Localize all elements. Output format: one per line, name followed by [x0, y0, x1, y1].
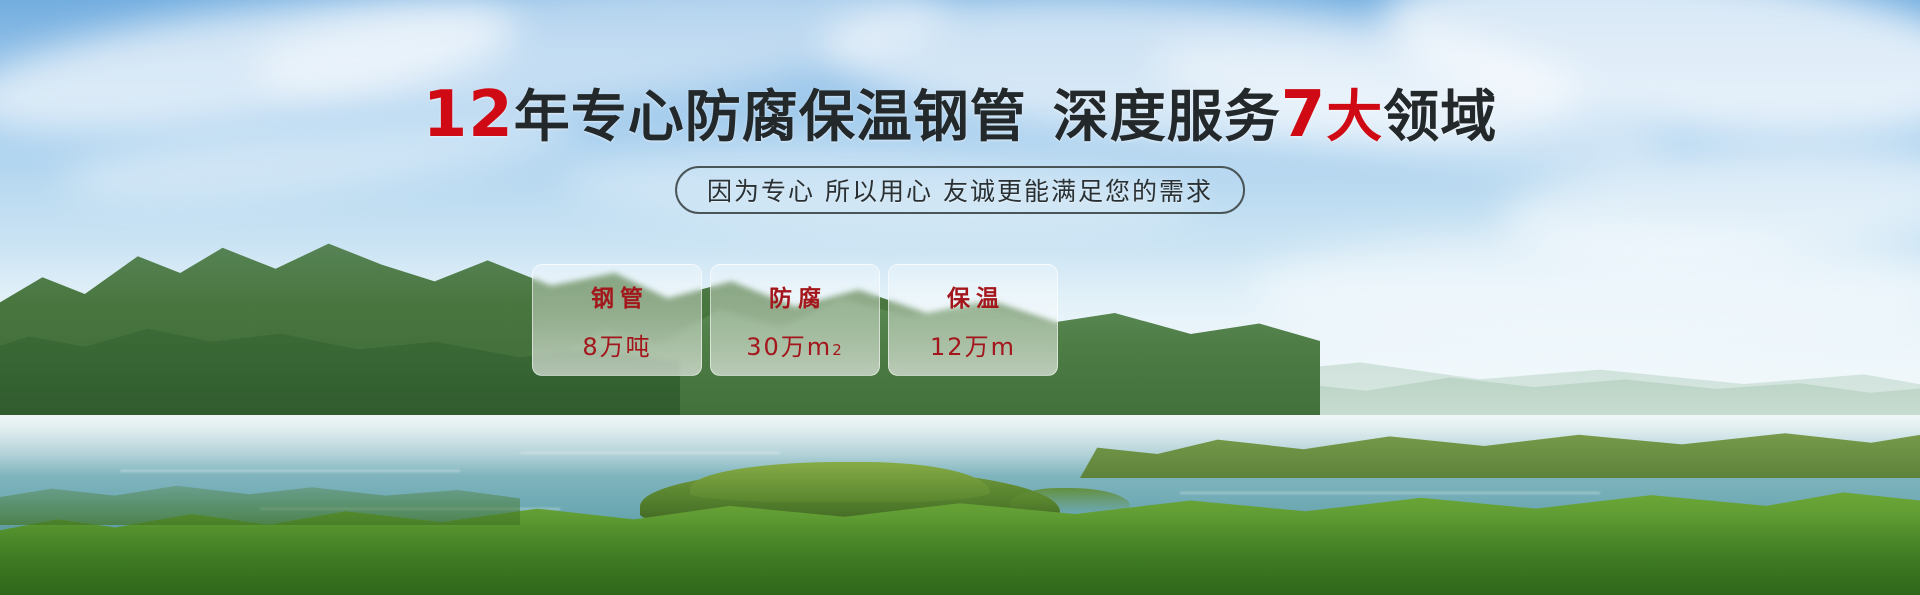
stat-card-insulation[interactable]: 保温 12万m	[888, 264, 1058, 376]
stat-card-value-sup: 2	[832, 341, 844, 359]
stat-card-value: 8万吨	[582, 327, 651, 362]
stat-cards-group: 钢管 8万吨 防腐 30万m2 保温 12万m	[532, 264, 1058, 376]
stat-card-value-text: 8万吨	[582, 327, 651, 362]
stat-card-anticorrosion[interactable]: 防腐 30万m2	[710, 264, 880, 376]
stat-card-value-text: 12万m	[930, 327, 1016, 362]
banner-headline: 12年专心防腐保温钢管深度服务7大领域	[0, 84, 1920, 149]
stat-card-value: 30万m2	[746, 327, 843, 362]
headline-lead-text: 年专心防腐保温钢管	[514, 85, 1027, 150]
headline-second-text: 深度服务	[1053, 85, 1281, 150]
headline-years-number: 12	[423, 78, 514, 152]
stat-card-steel-pipe[interactable]: 钢管 8万吨	[532, 264, 702, 376]
stat-card-value: 12万m	[930, 327, 1016, 362]
subtitle-pill: 因为专心 所以用心 友诚更能满足您的需求	[675, 166, 1245, 214]
headline-domains-unit: 大	[1326, 85, 1383, 150]
stat-card-title: 钢管	[585, 279, 649, 313]
headline-domains-number: 7	[1281, 78, 1327, 152]
subtitle-text: 因为专心 所以用心 友诚更能满足您的需求	[707, 172, 1213, 208]
banner-content: 12年专心防腐保温钢管深度服务7大领域 因为专心 所以用心 友诚更能满足您的需求…	[0, 0, 1920, 595]
headline-tail-text: 领域	[1383, 85, 1497, 150]
stat-card-value-text: 30万m	[746, 327, 832, 362]
stat-card-title: 防腐	[763, 279, 827, 313]
stat-card-title: 保温	[941, 279, 1005, 313]
hero-banner: 12年专心防腐保温钢管深度服务7大领域 因为专心 所以用心 友诚更能满足您的需求…	[0, 0, 1920, 595]
